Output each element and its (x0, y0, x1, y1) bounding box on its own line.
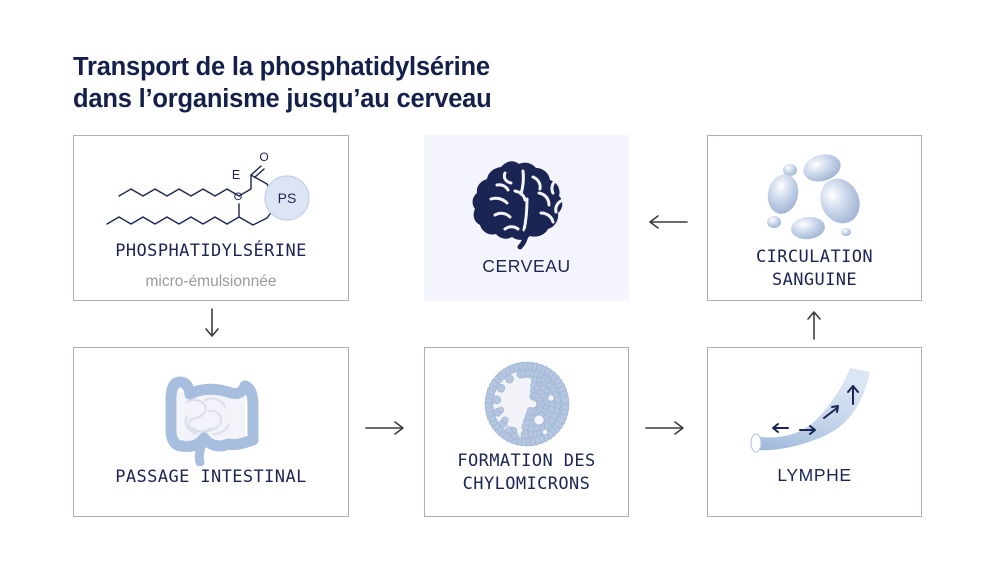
node-label-phosphatidylserine: PHOSPHATIDYLSÉRINE (115, 240, 306, 263)
arrow-intestine-to-chylomicrons (360, 413, 414, 443)
lipid-particle (498, 407, 504, 413)
blood-cell (767, 216, 781, 228)
lipid-particle (560, 395, 568, 403)
blood-cell (764, 171, 802, 216)
lipid-particle (526, 407, 534, 415)
ester-label: E (232, 168, 240, 182)
node-sublabel-phosphatidylserine: micro-émulsionnée (146, 273, 277, 291)
lipid-particle (540, 377, 546, 383)
blood-cell (789, 215, 825, 240)
lipid-particle (505, 427, 512, 434)
node-lymphe[interactable]: LYMPHE (707, 347, 922, 517)
node-label-formation-des-chylomicrons: FORMATION DES CHYLOMICRONS (457, 450, 595, 495)
node-label-circulation-sanguine: CIRCULATION SANGUINE (756, 246, 873, 291)
node-circulation-sanguine[interactable]: CIRCULATION SANGUINE (707, 135, 922, 301)
intestine-icon (74, 358, 348, 466)
arrow-chylomicrons-to-lymph (640, 413, 694, 443)
lipid-core-highlight (534, 416, 543, 425)
lipid-particle (533, 385, 539, 391)
node-cerveau[interactable]: CERVEAU (424, 135, 629, 301)
node-formation-des-chylomicrons[interactable]: FORMATION DES CHYLOMICRONS (424, 347, 629, 517)
arrow-blood-to-brain (639, 207, 693, 237)
node-label-cerveau: CERVEAU (482, 255, 571, 278)
node-label-lymphe: LYMPHE (777, 464, 851, 487)
lipid-particle (520, 430, 528, 438)
arrow-lymph-to-blood (795, 305, 833, 343)
oxygen-label-top: O (259, 150, 268, 164)
lipid-particle (496, 384, 504, 392)
lipid-core-highlight (548, 395, 553, 400)
chylomicron-icon (425, 358, 628, 450)
diagram-canvas: Transport de la phosphatidylsérine dans … (0, 0, 1000, 563)
lymph-vessel-icon (708, 360, 921, 464)
lipid-core-highlight (542, 430, 546, 434)
brain-icon (424, 151, 629, 255)
phosphatidylserine-molecule-icon: PS E O O (74, 144, 348, 240)
ps-headgroup-label: PS (278, 190, 297, 206)
arrow-ps-to-intestine (193, 305, 231, 343)
blood-cell (841, 228, 851, 236)
lipid-particle (511, 432, 518, 439)
oxygen-label-bottom: O (234, 191, 243, 203)
blood-cells-icon (708, 150, 921, 246)
lipid-particle (505, 375, 513, 383)
node-label-passage-intestinal: PASSAGE INTESTINAL (115, 466, 306, 489)
node-phosphatidylserine[interactable]: PS E O O PHOSPHATIDYLSÉRINE micro-émulsi… (73, 135, 349, 301)
node-passage-intestinal[interactable]: PASSAGE INTESTINAL (73, 347, 349, 517)
page-title: Transport de la phosphatidylsérine dans … (73, 51, 492, 116)
lipid-particle (501, 417, 507, 423)
lipid-particle (492, 396, 500, 404)
